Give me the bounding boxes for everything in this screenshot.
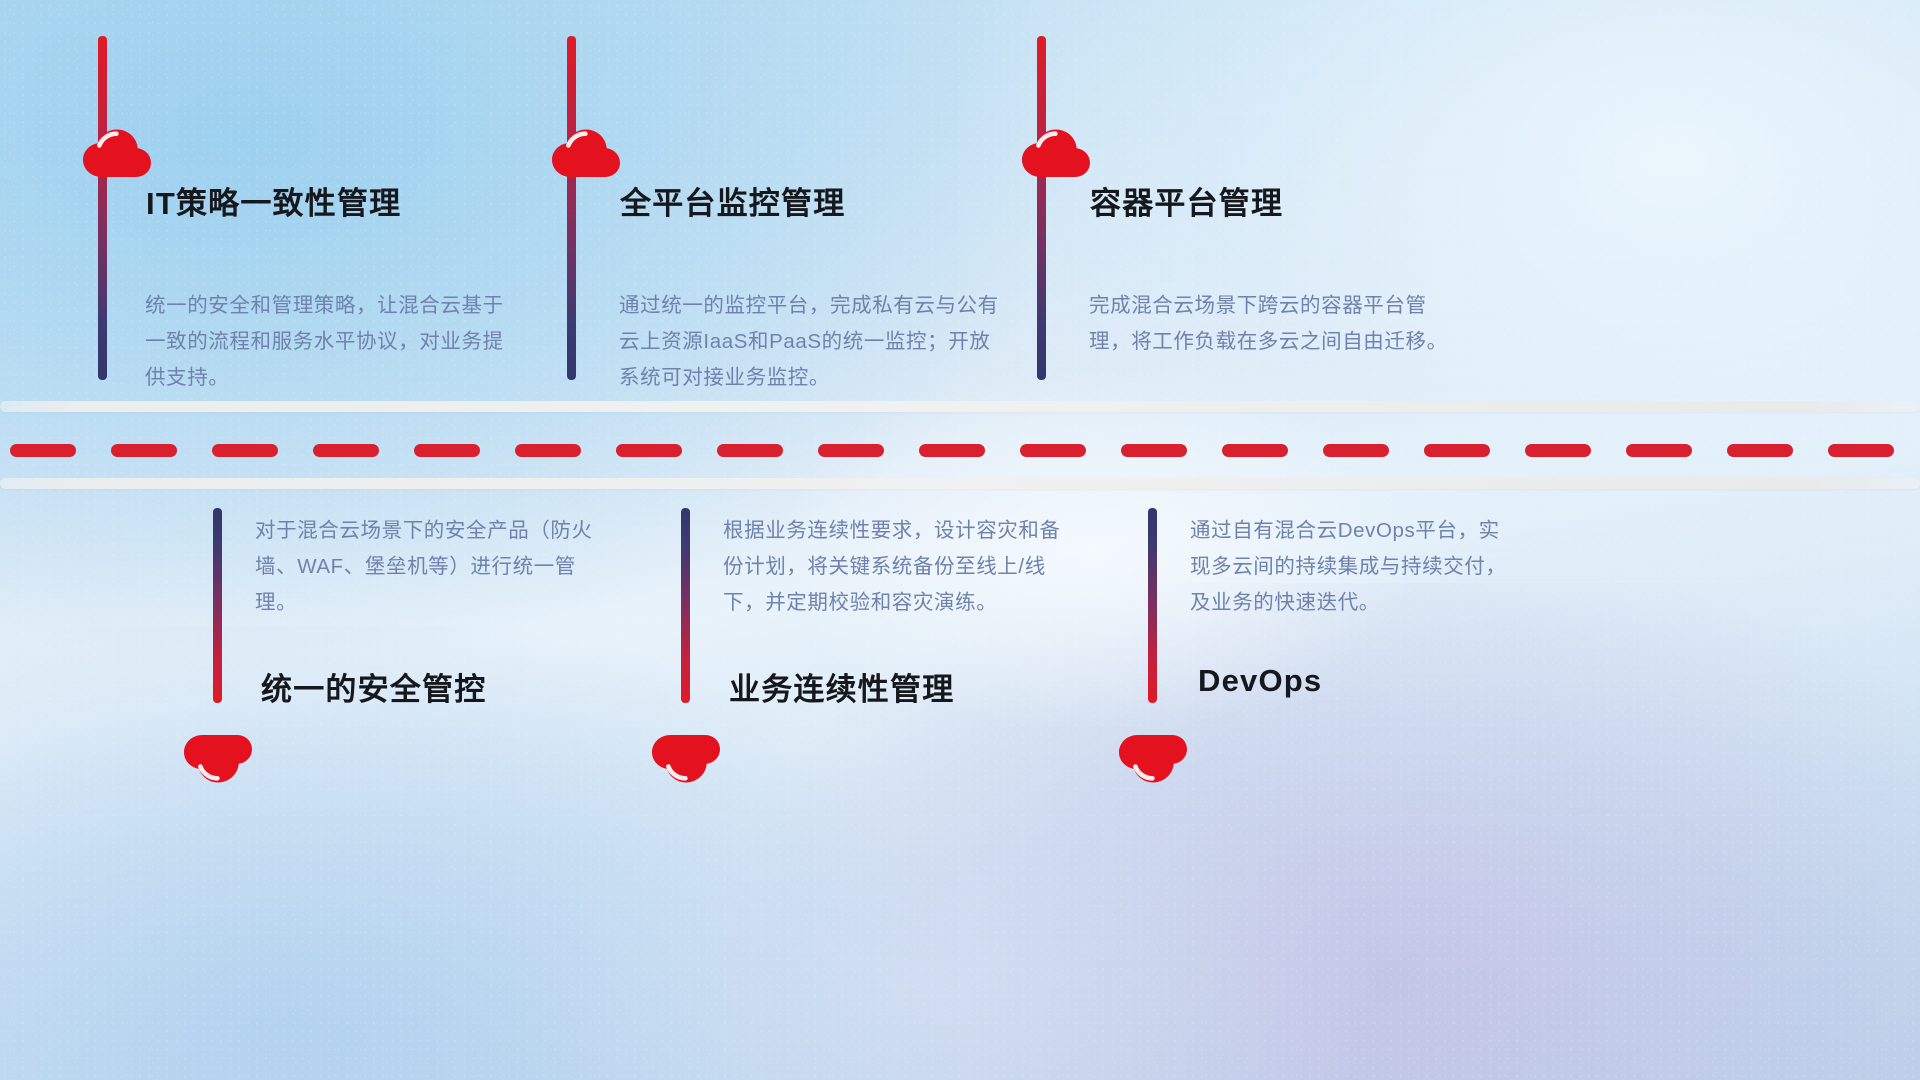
capability-description: 完成混合云场景下跨云的容器平台管理，将工作负载在多云之间自由迁移。 [1089,288,1449,360]
connector-stem [213,508,222,703]
connector-stem [1037,36,1046,380]
dash-segment [1525,444,1591,457]
dash-segment [1626,444,1692,457]
capability-description: 通过统一的监控平台，完成私有云与公有云上资源IaaS和PaaS的统一监控；开放系… [619,288,999,396]
cloud-icon [650,734,722,784]
cloud-icon [81,128,153,178]
dash-segment [1828,444,1894,457]
dash-segment [313,444,379,457]
capability-title: 业务连续性管理 [729,664,954,709]
connector-stem [681,508,690,703]
cloud-icon [182,734,254,784]
capability-description: 根据业务连续性要求，设计容灾和备份计划，将关键系统备份至线上/线下，并定期校验和… [723,513,1073,621]
dash-segment [1424,444,1490,457]
dash-segment [414,444,480,457]
dash-segment [919,444,985,457]
dash-segment [10,444,76,457]
cloud-icon [550,128,622,178]
capability-title: IT策略一致性管理 [146,178,401,223]
dash-segment [212,444,278,457]
separator-bar-lower [0,478,1920,489]
dash-segment [515,444,581,457]
separator-bar-upper [0,401,1920,412]
dash-segment [616,444,682,457]
dash-segment [1323,444,1389,457]
dash-segment [818,444,884,457]
capability-description: 通过自有混合云DevOps平台，实现多云间的持续集成与持续交付，及业务的快速迭代… [1190,513,1520,621]
connector-stem [567,36,576,380]
bottom-capability-row: 对于混合云场景下的安全产品（防火墙、WAF、堡垒机等）进行统一管理。 统一的安全… [0,489,1920,1080]
dash-segment [717,444,783,457]
dash-segment [111,444,177,457]
capability-description: 统一的安全和管理策略，让混合云基于一致的流程和服务水平协议，对业务提供支持。 [145,288,505,396]
top-capability-row: IT策略一致性管理 统一的安全和管理策略，让混合云基于一致的流程和服务水平协议，… [0,0,1920,401]
capability-title: 全平台监控管理 [620,178,845,223]
connector-stem [1148,508,1157,703]
red-dashed-divider [0,443,1920,457]
connector-stem [98,36,107,380]
capability-title: 统一的安全管控 [261,664,486,709]
dash-segment [1121,444,1187,457]
cloud-icon [1020,128,1092,178]
dash-segment [1727,444,1793,457]
capability-description: 对于混合云场景下的安全产品（防火墙、WAF、堡垒机等）进行统一管理。 [255,513,605,621]
capability-title: DevOps [1198,663,1322,699]
capability-title: 容器平台管理 [1090,178,1283,223]
dash-segment [1020,444,1086,457]
dash-segment [1222,444,1288,457]
cloud-icon [1117,734,1189,784]
